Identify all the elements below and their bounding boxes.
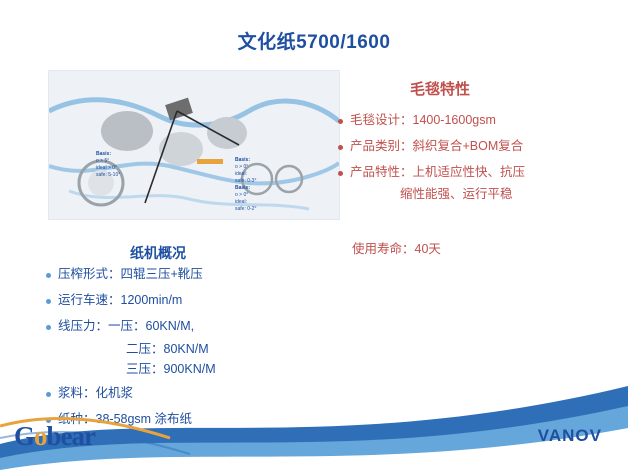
felt-item-0: 毛毯设计：1400-1600gsm bbox=[350, 112, 496, 129]
svg-text:safe: 5-10°: safe: 5-10° bbox=[96, 172, 120, 178]
svg-text:safe: 0-3°: safe: 0-3° bbox=[235, 178, 256, 184]
svg-text:o > 0°: o > 0° bbox=[235, 164, 248, 170]
machine-item-1: 运行车速：1200min/m bbox=[58, 292, 182, 309]
footer-decoration: Gobear VANOV bbox=[0, 366, 628, 476]
gobear-logo: Gobear bbox=[14, 421, 95, 452]
page-title: 文化纸5700/1600 bbox=[0, 27, 628, 54]
list-item: 运行车速：1200min/m bbox=[46, 292, 326, 309]
bullet-dot-icon bbox=[46, 273, 51, 278]
svg-text:ideal > 0°: ideal > 0° bbox=[96, 165, 117, 171]
felt-service-life: 使用寿命：40天 bbox=[352, 238, 441, 257]
bullet-dot-icon bbox=[46, 325, 51, 330]
machine-item-0: 压榨形式：四辊三压+靴压 bbox=[58, 266, 203, 283]
svg-text:Basis:: Basis: bbox=[235, 185, 250, 191]
logo-letter-o: o bbox=[34, 421, 47, 451]
slide-root: 文化纸5700/1600 Basis: o > 5 bbox=[0, 0, 628, 476]
vanov-logo: VANOV bbox=[538, 426, 602, 446]
list-item: 线压力：一压：60KN/M, bbox=[46, 318, 326, 335]
svg-text:ideal:: ideal: bbox=[235, 171, 247, 177]
felt-item-1: 产品类别：斜织复合+BOM复合 bbox=[350, 138, 523, 155]
felt-bullet-list: 毛毯设计：1400-1600gsm 产品类别：斜织复合+BOM复合 产品特性：上… bbox=[338, 112, 628, 212]
list-item: 产品特性：上机适应性快、抗压 bbox=[338, 164, 628, 181]
bullet-dot-icon bbox=[46, 299, 51, 304]
list-item: 压榨形式：四辊三压+靴压 bbox=[46, 266, 326, 283]
svg-text:safe: 0-2°: safe: 0-2° bbox=[235, 206, 256, 212]
felt-section-heading: 毛毯特性 bbox=[410, 78, 470, 99]
felt-item-2: 产品特性：上机适应性快、抗压 bbox=[350, 164, 525, 181]
press-section-diagram: Basis: o > 5° ideal > 0° safe: 5-10° Bas… bbox=[48, 70, 340, 220]
machine-section-heading: 纸机概况 bbox=[130, 243, 186, 263]
bullet-dot-icon bbox=[338, 145, 343, 150]
svg-text:Basis:: Basis: bbox=[96, 151, 111, 157]
svg-text:o > 0°: o > 0° bbox=[235, 192, 248, 198]
logo-letter-g: G bbox=[14, 421, 34, 451]
svg-text:ideal:: ideal: bbox=[235, 199, 247, 205]
machine-pressure-line-1: 二压：80KN/M bbox=[126, 341, 326, 359]
svg-text:o > 5°: o > 5° bbox=[96, 158, 109, 164]
machine-item-2: 线压力：一压：60KN/M, bbox=[58, 318, 194, 335]
bullet-dot-icon bbox=[338, 171, 343, 176]
list-item: 产品类别：斜织复合+BOM复合 bbox=[338, 138, 628, 155]
bullet-dot-icon bbox=[338, 119, 343, 124]
list-item: 毛毯设计：1400-1600gsm bbox=[338, 112, 628, 129]
logo-letters-bear: bear bbox=[47, 421, 95, 451]
svg-text:Basis:: Basis: bbox=[235, 157, 250, 163]
felt-item-2-continuation: 缩性能强、运行平稳 bbox=[400, 186, 628, 203]
